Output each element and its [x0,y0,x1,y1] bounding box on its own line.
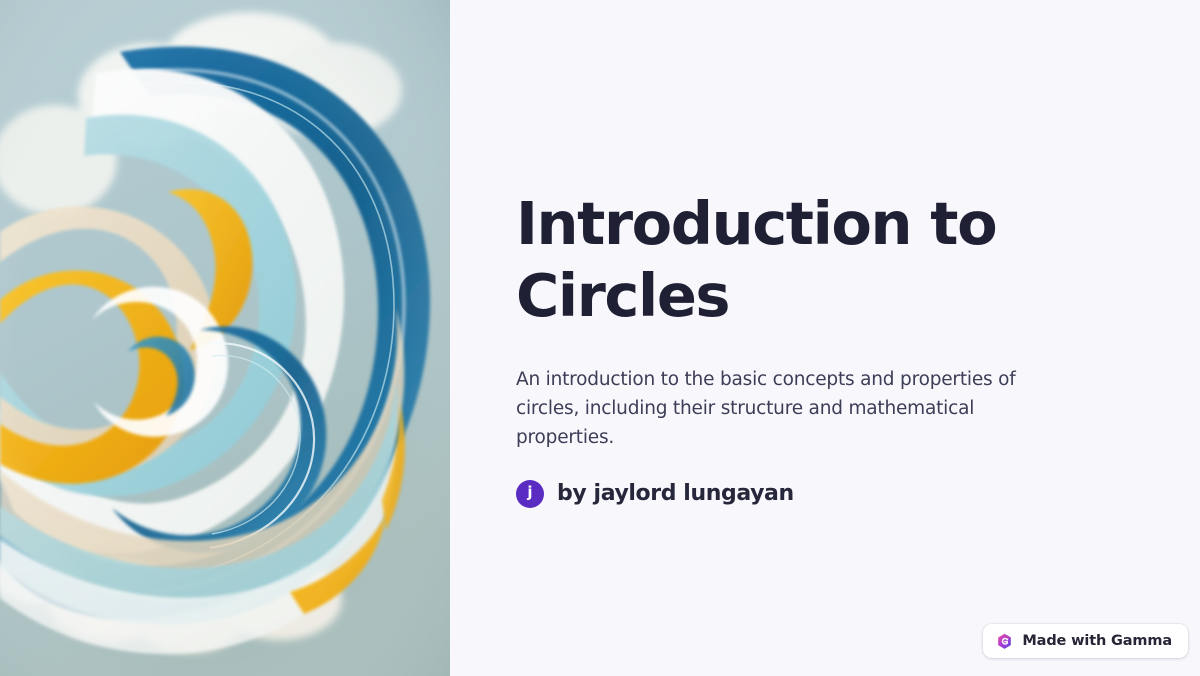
slide-text-panel: Introduction to Circles An introduction … [450,0,1200,676]
slide-subtitle: An introduction to the basic concepts an… [516,366,1076,453]
author-name: by jaylord lungayan [557,481,794,506]
made-with-gamma-badge[interactable]: Made with Gamma [983,624,1188,658]
gamma-logo-icon [996,633,1013,650]
presentation-slide: Introduction to Circles An introduction … [0,0,1200,676]
author-byline: j by jaylord lungayan [516,480,1116,508]
gamma-badge-label: Made with Gamma [1022,633,1172,649]
page-title: Introduction to Circles [516,188,1036,332]
avatar: j [516,480,544,508]
slide-content: Introduction to Circles An introduction … [516,188,1116,508]
abstract-swirl-image [0,0,450,676]
swirl-artwork-graphic [0,0,450,676]
